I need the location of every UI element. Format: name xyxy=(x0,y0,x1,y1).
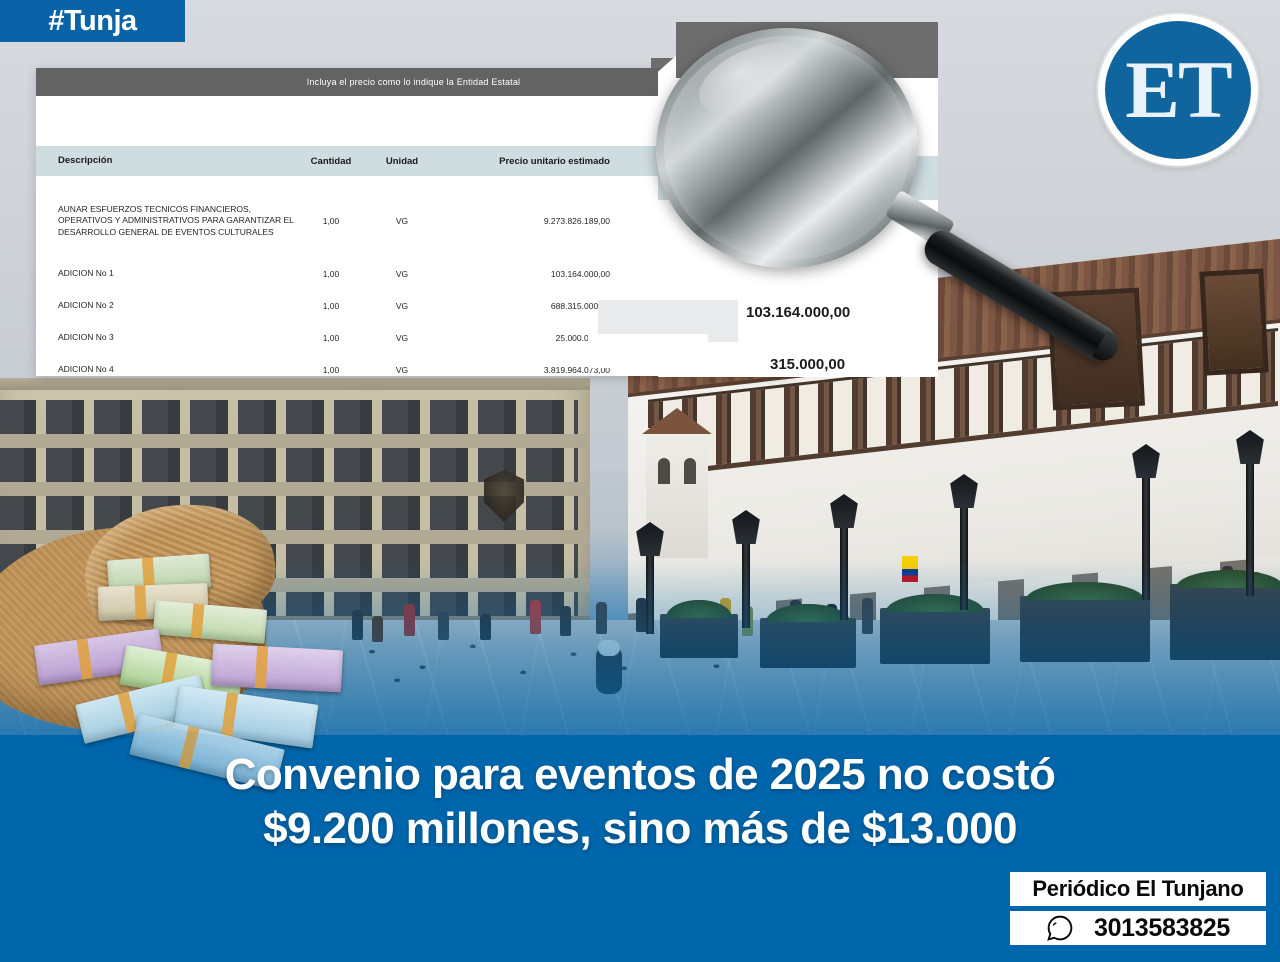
banknote-band xyxy=(255,646,268,689)
magnified-value-row-3: 315.000,00 xyxy=(770,356,845,373)
whatsapp-contact-badge[interactable]: 3013583825 xyxy=(1010,911,1266,945)
banknote-band xyxy=(191,604,205,639)
column-header-descripcion: Descripción xyxy=(36,155,296,168)
church-arch-left xyxy=(658,458,670,484)
cell-cantidad: 1,00 xyxy=(296,216,366,226)
banknote-band xyxy=(76,638,92,679)
document-instruction-text: Incluya el precio como lo indique la Ent… xyxy=(307,77,521,87)
money-sack xyxy=(0,505,296,735)
column-header-precio-unitario-estimado: Precio unitario estimado xyxy=(438,156,618,167)
logo-ellipse: ET xyxy=(1098,14,1258,166)
phone-number: 3013583825 xyxy=(1094,914,1230,943)
cell-descripcion: ADICION No 3 xyxy=(36,332,296,343)
cell-descripcion: ADICION No 4 xyxy=(36,364,296,375)
cell-descripcion: AUNAR ESFUERZOS TECNICOS FINANCIEROS, OP… xyxy=(36,204,296,238)
church-arch-right xyxy=(684,458,696,484)
banknote-band xyxy=(135,585,147,619)
hashtag-label: #Tunja xyxy=(48,5,136,38)
building-window-row-1 xyxy=(0,400,578,434)
cell-descripcion: ADICION No 2 xyxy=(36,300,296,311)
whatsapp-icon xyxy=(1046,914,1074,942)
cell-unidad: VG xyxy=(366,216,438,226)
banknote-band xyxy=(117,692,137,733)
cell-cantidad: 1,00 xyxy=(296,301,366,311)
cell-unidad: VG xyxy=(366,301,438,311)
magnified-paper-step-2 xyxy=(588,334,708,368)
logo-initials: ET xyxy=(1125,49,1230,131)
headline-line-2: $9.200 millones, sino más de $13.000 xyxy=(0,802,1280,856)
news-graphic-canvas: Incluya el precio como lo indique la Ent… xyxy=(0,0,1280,962)
cell-precio-unitario-estimado: 688.315.000,00 xyxy=(438,301,618,311)
hashtag-tag: #Tunja xyxy=(0,0,185,42)
magnifier-assembly: Precio total estimado 13.910.269.262,00 … xyxy=(618,8,1178,388)
cell-unidad: VG xyxy=(366,365,438,375)
cell-cantidad: 1,00 xyxy=(296,365,366,375)
cell-unidad: VG xyxy=(366,269,438,279)
footer-badges: Periódico El Tunjano 3013583825 xyxy=(1010,872,1266,950)
newspaper-name-badge: Periódico El Tunjano xyxy=(1010,872,1266,906)
building-band-1 xyxy=(0,434,590,448)
et-logo: ET xyxy=(1098,14,1258,166)
banknote-band xyxy=(221,692,238,737)
magnified-value-row-2: 103.164.000,00 xyxy=(746,304,850,321)
headline: Convenio para eventos de 2025 no costó $… xyxy=(0,748,1280,855)
banknote-stack xyxy=(211,644,343,693)
column-header-cantidad: Cantidad xyxy=(296,156,366,167)
cell-unidad: VG xyxy=(366,333,438,343)
cell-precio-unitario-estimado: 9.273.826.189,00 xyxy=(438,216,618,226)
cell-precio-unitario-estimado: 103.164.000,00 xyxy=(438,269,618,279)
banknote-stacks xyxy=(26,563,356,763)
wooden-bay-window-2 xyxy=(1199,268,1268,375)
banknote-stack xyxy=(153,600,268,644)
cell-descripcion: ADICION No 1 xyxy=(36,268,296,279)
cell-cantidad: 1,00 xyxy=(296,269,366,279)
magnifier-handle xyxy=(919,225,1122,367)
headline-line-1: Convenio para eventos de 2025 no costó xyxy=(0,748,1280,802)
newspaper-name: Periódico El Tunjano xyxy=(1032,876,1243,902)
cell-cantidad: 1,00 xyxy=(296,333,366,343)
column-header-unidad: Unidad xyxy=(366,156,438,167)
